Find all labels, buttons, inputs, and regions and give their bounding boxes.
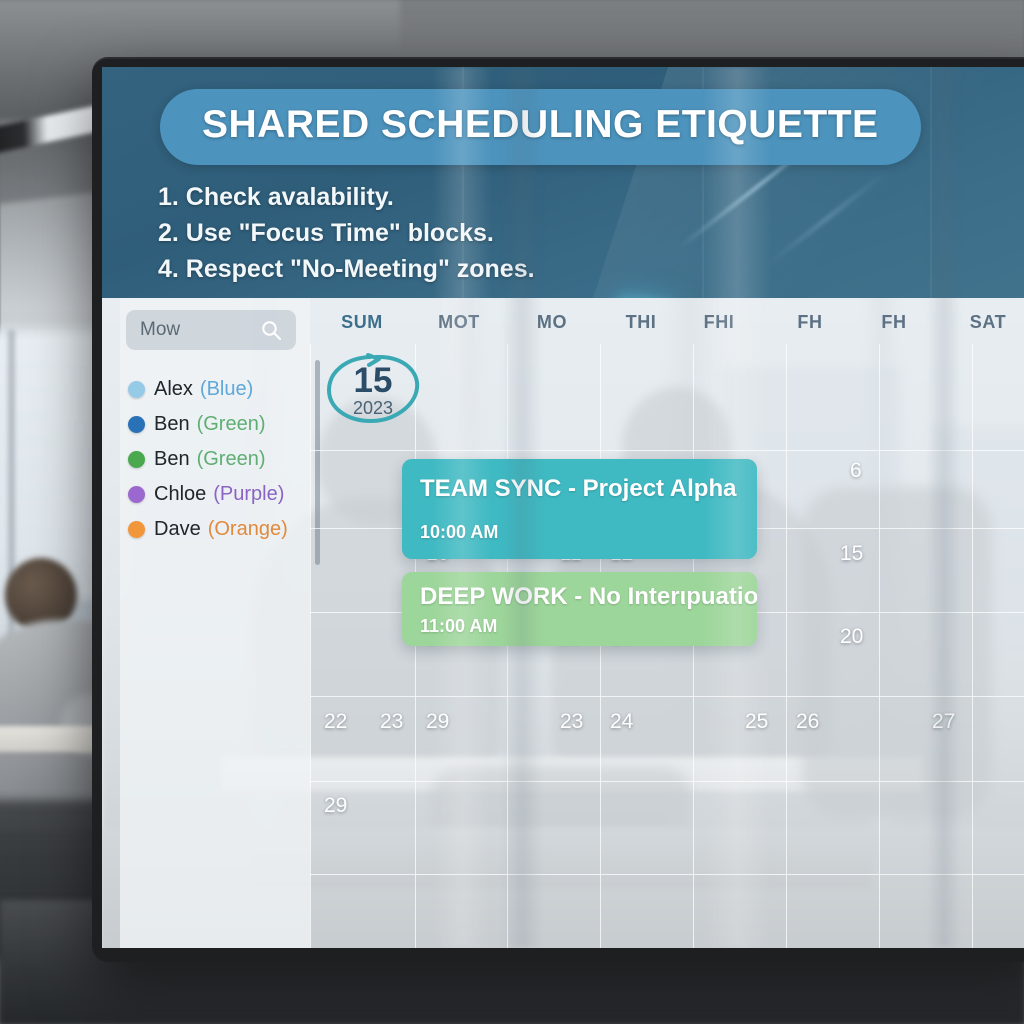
search-icon[interactable] (261, 320, 282, 346)
grid-line-vertical (879, 344, 880, 948)
day-header-3: THI (626, 312, 657, 333)
person-name: Alex (154, 378, 193, 401)
day-number-cell[interactable]: 22 (324, 710, 347, 734)
person-color-label: (Green) (197, 448, 266, 471)
monitor-bezel: SHARED SCHEDULING ETIQUETTE 1. Check ava… (102, 67, 1024, 948)
grid-line-horizontal (310, 874, 1024, 875)
list-item[interactable]: Dave (Orange) (128, 512, 302, 547)
day-header-6: FH (881, 312, 906, 333)
event-title: DEEP WORK - No Interιpuations (420, 583, 757, 611)
header-banner: SHARED SCHEDULING ETIQUETTE 1. Check ava… (102, 67, 1024, 298)
screen: SHARED SCHEDULING ETIQUETTE 1. Check ava… (102, 67, 1024, 948)
color-dot (128, 451, 145, 468)
list-item[interactable]: Ben (Green) (128, 407, 302, 442)
grid-line-vertical (693, 344, 694, 948)
grid-line-vertical (507, 344, 508, 948)
list-item[interactable]: Chloe (Purple) (128, 477, 302, 512)
day-number-cell[interactable]: 29 (426, 710, 449, 734)
search-input[interactable]: Mow (126, 310, 296, 350)
day-number-cell[interactable]: 29 (324, 794, 347, 818)
selected-day-number: 15 (324, 361, 422, 401)
day-number-cell[interactable]: 25 (745, 710, 768, 734)
search-input-value: Mow (140, 319, 180, 341)
event-title: TEAM SYNC - Project Alpha (420, 475, 736, 503)
day-header-2: MO (537, 312, 567, 333)
grid-line-vertical (600, 344, 601, 948)
handshake-icon (614, 289, 676, 298)
color-dot (128, 381, 145, 398)
color-dot (128, 521, 145, 538)
day-header-7: SAT (970, 312, 1006, 333)
title-pill: SHARED SCHEDULING ETIQUETTE (160, 89, 921, 165)
page-title: SHARED SCHEDULING ETIQUETTE (202, 103, 879, 147)
rule-item-1: 1. Check avalability. (158, 179, 535, 215)
day-number-cell[interactable]: 27 (932, 710, 955, 734)
rule-item-2: 2. Use "Focus Time" blocks. (158, 215, 535, 251)
day-number-cell[interactable]: 23 (380, 710, 403, 734)
grid-line-vertical (310, 344, 311, 948)
day-number-cell[interactable]: 6 (850, 459, 862, 483)
color-dot (128, 416, 145, 433)
day-number-cell[interactable]: 15 (840, 542, 863, 566)
day-number-cell[interactable]: 26 (796, 710, 819, 734)
list-item[interactable]: Alex (Blue) (128, 372, 302, 407)
grid-line-horizontal (310, 450, 1024, 451)
header-gridline (930, 67, 932, 298)
event-card-deep-work[interactable]: DEEP WORK - No Interιpuations 11:00 AM (402, 572, 757, 646)
person-name: Ben (154, 413, 190, 436)
grid-line-vertical (972, 344, 973, 948)
event-time: 10:00 AM (420, 522, 498, 543)
day-header-0: SUM (341, 312, 383, 333)
day-number-cell[interactable]: 24 (610, 710, 633, 734)
grid-line-vertical (786, 344, 787, 948)
person-color-label: (Orange) (208, 518, 288, 541)
day-header-row: SUM MOT MO THI FHI FH FH SAT (310, 298, 1024, 344)
sidebar: Mow Alex (Blue) (120, 298, 310, 948)
event-card-team-sync[interactable]: TEAM SYNC - Project Alpha 10:00 AM (402, 459, 757, 559)
people-list: Alex (Blue) Ben (Green) Ben (Green) (128, 372, 302, 547)
person-name: Chloe (154, 483, 206, 506)
day-header-4: FHI (704, 312, 735, 333)
monitor-frame: SHARED SCHEDULING ETIQUETTE 1. Check ava… (92, 57, 1024, 962)
day-header-5: FH (797, 312, 822, 333)
person-color-label: (Green) (197, 413, 266, 436)
person-color-label: (Purple) (213, 483, 284, 506)
rule-item-3: 4. Respect "No-Meeting" zones. (158, 251, 535, 287)
list-item[interactable]: Ben (Green) (128, 442, 302, 477)
grid-line-horizontal (310, 781, 1024, 782)
selected-date-badge[interactable]: 15 2023 (324, 352, 422, 426)
grid-line-vertical (415, 344, 416, 948)
day-number-cell[interactable]: 23 (560, 710, 583, 734)
grid-line-horizontal (310, 696, 1024, 697)
etiquette-rules-list: 1. Check avalability. 2. Use "Focus Time… (158, 179, 535, 287)
person-name: Dave (154, 518, 201, 541)
calendar-panel: Mow Alex (Blue) (102, 298, 1024, 948)
color-dot (128, 486, 145, 503)
event-time: 11:00 AM (420, 616, 497, 637)
day-header-1: MOT (438, 312, 480, 333)
selected-year: 2023 (324, 398, 422, 419)
day-number-cell[interactable]: 20 (840, 625, 863, 649)
person-name: Ben (154, 448, 190, 471)
calendar-grid: 4 2 5 6 10 11 12 15 17 19 19 20 22 (310, 344, 1024, 948)
person-color-label: (Blue) (200, 378, 253, 401)
